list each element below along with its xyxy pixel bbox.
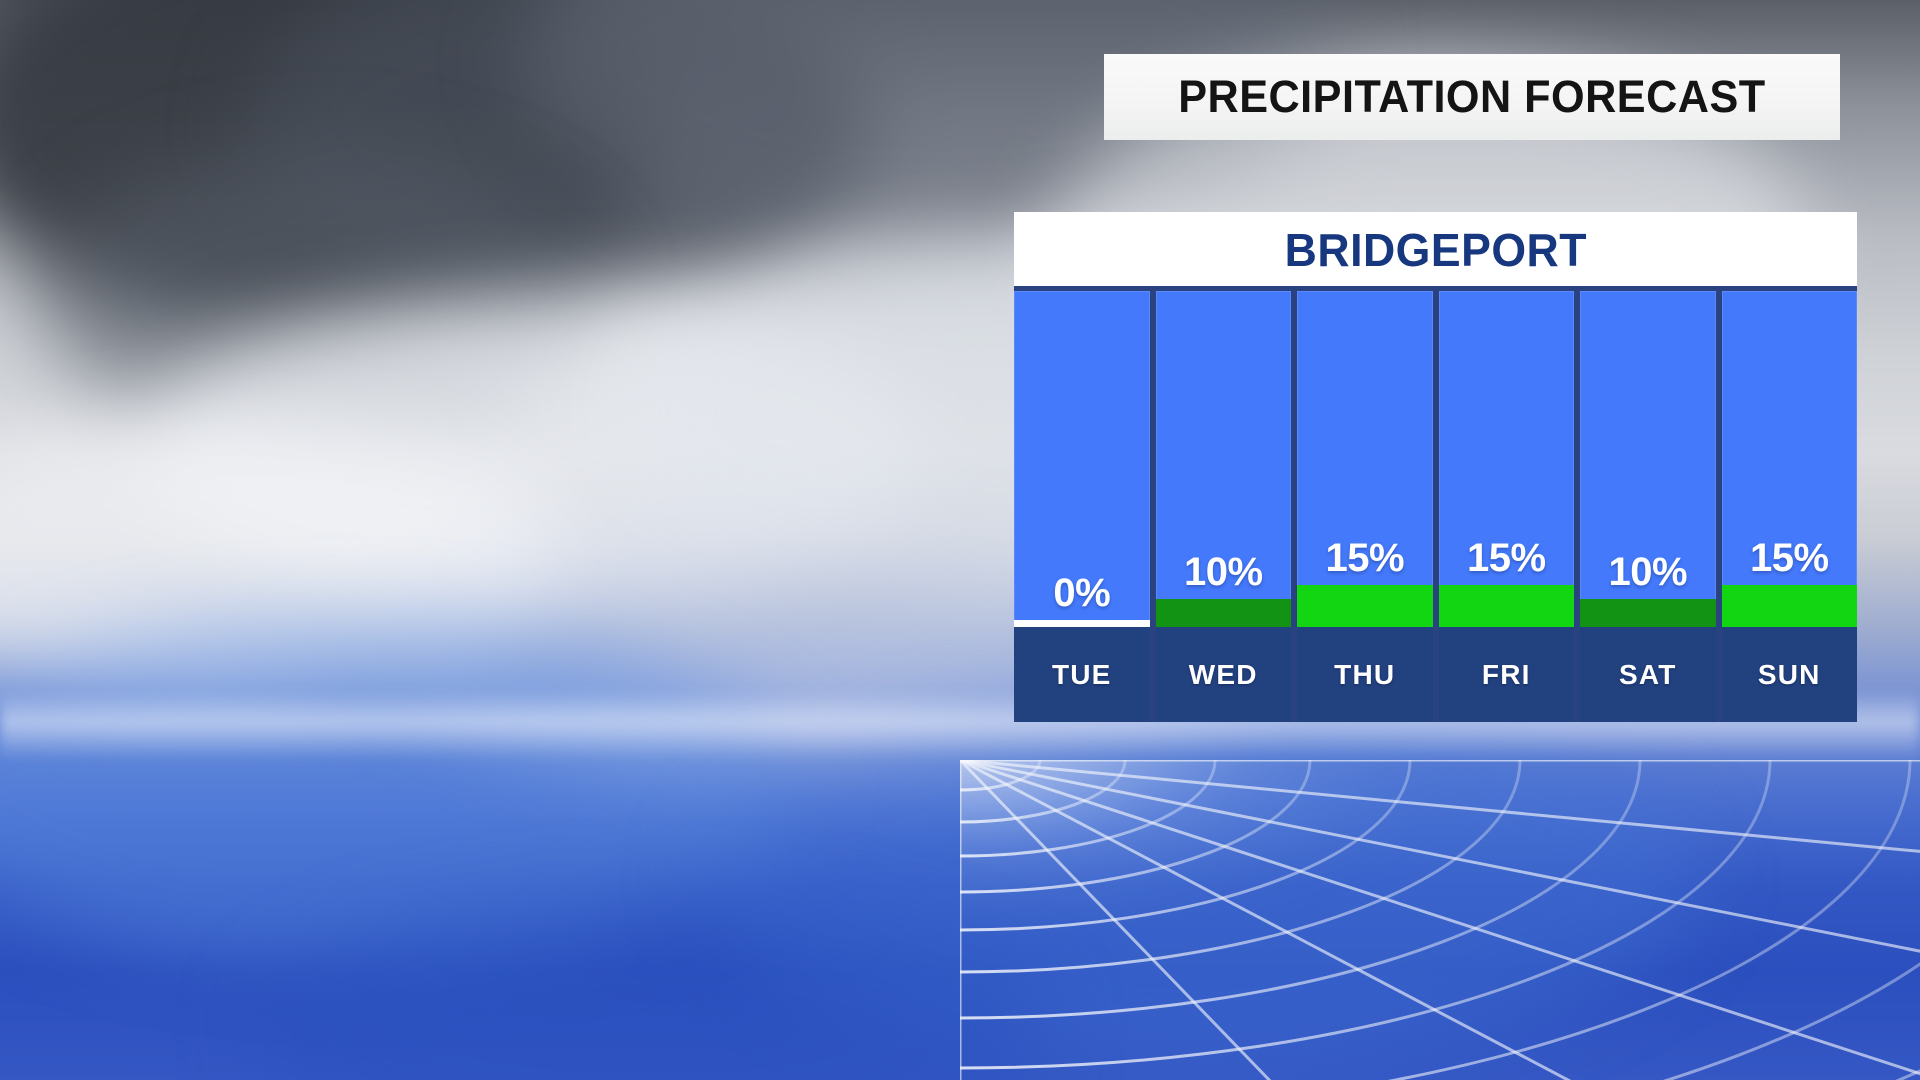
precip-percent-label: 10% xyxy=(1156,550,1292,595)
day-name-label: SUN xyxy=(1758,659,1821,691)
precip-percent-label: 10% xyxy=(1580,550,1716,595)
precip-bar-fill xyxy=(1156,599,1292,627)
forecast-day-column[interactable]: 0%TUE xyxy=(1014,291,1150,722)
precip-bar-fill xyxy=(1580,599,1716,627)
precipitation-bar-chart: 0%TUE10%WED15%THU15%FRI10%SAT15%SUN xyxy=(1014,286,1857,722)
precip-percent-label: 15% xyxy=(1297,536,1433,581)
forecast-day-column[interactable]: 10%SAT xyxy=(1580,291,1716,722)
forecast-day-column[interactable]: 15%THU xyxy=(1297,291,1433,722)
day-label-box: THU xyxy=(1297,627,1433,722)
weather-graphic-stage: PRECIPITATION FORECAST BRIDGEPORT 0%TUE1… xyxy=(0,0,1920,1080)
city-name: BRIDGEPORT xyxy=(1284,223,1586,277)
day-label-box: WED xyxy=(1156,627,1292,722)
day-name-label: THU xyxy=(1334,659,1395,691)
forecast-day-column[interactable]: 15%FRI xyxy=(1439,291,1575,722)
day-label-box: SUN xyxy=(1722,627,1858,722)
city-header: BRIDGEPORT xyxy=(1014,212,1857,288)
precip-bar-fill xyxy=(1014,620,1150,627)
forecast-day-column[interactable]: 10%WED xyxy=(1156,291,1292,722)
precip-percent-label: 0% xyxy=(1014,571,1150,616)
day-label-box: TUE xyxy=(1014,627,1150,722)
day-label-box: SAT xyxy=(1580,627,1716,722)
title-banner: PRECIPITATION FORECAST xyxy=(1104,54,1840,140)
precip-bar-fill xyxy=(1722,585,1858,627)
forecast-day-column[interactable]: 15%SUN xyxy=(1722,291,1858,722)
page-title: PRECIPITATION FORECAST xyxy=(1178,71,1765,123)
precip-bar-fill xyxy=(1297,585,1433,627)
day-name-label: WED xyxy=(1189,659,1258,691)
day-name-label: FRI xyxy=(1482,659,1531,691)
day-label-box: FRI xyxy=(1439,627,1575,722)
precip-percent-label: 15% xyxy=(1722,536,1858,581)
precip-percent-label: 15% xyxy=(1439,536,1575,581)
day-name-label: SAT xyxy=(1619,659,1677,691)
day-name-label: TUE xyxy=(1052,659,1112,691)
precip-bar-fill xyxy=(1439,585,1575,627)
